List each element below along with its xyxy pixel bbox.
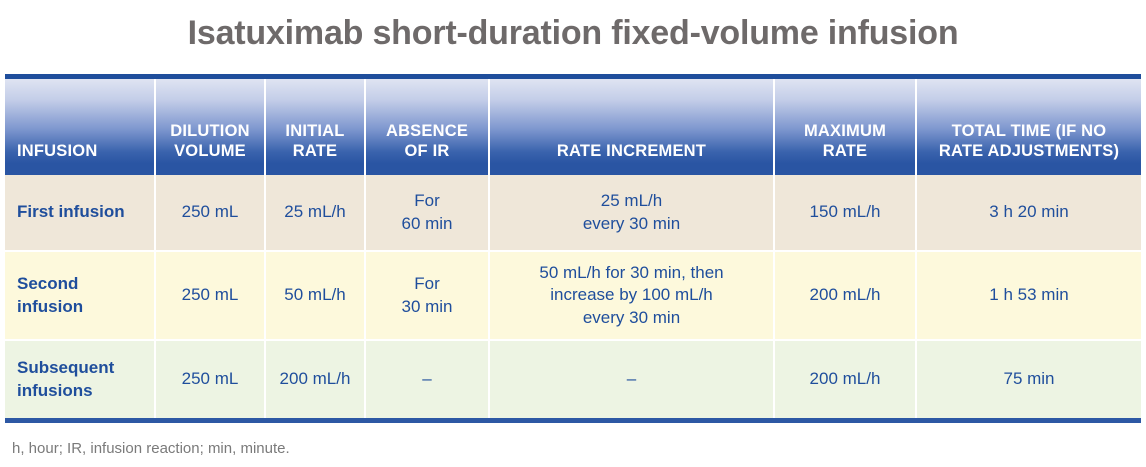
cell-initial-rate: 50 mL/h [265, 251, 365, 340]
column-header-rate-increment: RATE INCREMENT [489, 79, 774, 175]
column-header-total-time: TOTAL TIME (IF NORATE ADJUSTMENTS) [916, 79, 1141, 175]
table-row: Secondinfusion 250 mL 50 mL/h For30 min … [5, 251, 1141, 340]
cell-rate-increment: 25 mL/hevery 30 min [489, 175, 774, 251]
cell-dilution-volume: 250 mL [155, 175, 265, 251]
table-row: First infusion 250 mL 25 mL/h For60 min … [5, 175, 1141, 251]
cell-total-time: 1 h 53 min [916, 251, 1141, 340]
infusion-table-container: INFUSION DILUTIONVOLUME INITIALRATE ABSE… [5, 74, 1141, 423]
cell-infusion-label: First infusion [5, 175, 155, 251]
infusion-table-page: Isatuximab short-duration fixed-volume i… [0, 0, 1146, 467]
table-row: Subsequentinfusions 250 mL 200 mL/h – – … [5, 340, 1141, 418]
column-header-dilution-volume: DILUTIONVOLUME [155, 79, 265, 175]
cell-maximum-rate: 150 mL/h [774, 175, 916, 251]
cell-infusion-label: Secondinfusion [5, 251, 155, 340]
column-header-maximum-rate: MAXIMUMRATE [774, 79, 916, 175]
cell-initial-rate: 25 mL/h [265, 175, 365, 251]
cell-rate-increment: 50 mL/h for 30 min, thenincrease by 100 … [489, 251, 774, 340]
column-header-infusion: INFUSION [5, 79, 155, 175]
cell-maximum-rate: 200 mL/h [774, 251, 916, 340]
cell-absence-of-ir: For60 min [365, 175, 489, 251]
cell-total-time: 75 min [916, 340, 1141, 418]
cell-total-time: 3 h 20 min [916, 175, 1141, 251]
infusion-schedule-table: INFUSION DILUTIONVOLUME INITIALRATE ABSE… [5, 79, 1141, 418]
cell-maximum-rate: 200 mL/h [774, 340, 916, 418]
table-footnote: h, hour; IR, infusion reaction; min, min… [12, 440, 290, 457]
cell-dilution-volume: 250 mL [155, 340, 265, 418]
table-bottom-rule [5, 418, 1141, 423]
column-header-initial-rate: INITIALRATE [265, 79, 365, 175]
table-header-row: INFUSION DILUTIONVOLUME INITIALRATE ABSE… [5, 79, 1141, 175]
column-header-absence-of-ir: ABSENCEOF IR [365, 79, 489, 175]
cell-absence-of-ir: For30 min [365, 251, 489, 340]
cell-dilution-volume: 250 mL [155, 251, 265, 340]
page-title: Isatuximab short-duration fixed-volume i… [0, 14, 1146, 53]
cell-infusion-label: Subsequentinfusions [5, 340, 155, 418]
cell-initial-rate: 200 mL/h [265, 340, 365, 418]
cell-absence-of-ir: – [365, 340, 489, 418]
cell-rate-increment: – [489, 340, 774, 418]
